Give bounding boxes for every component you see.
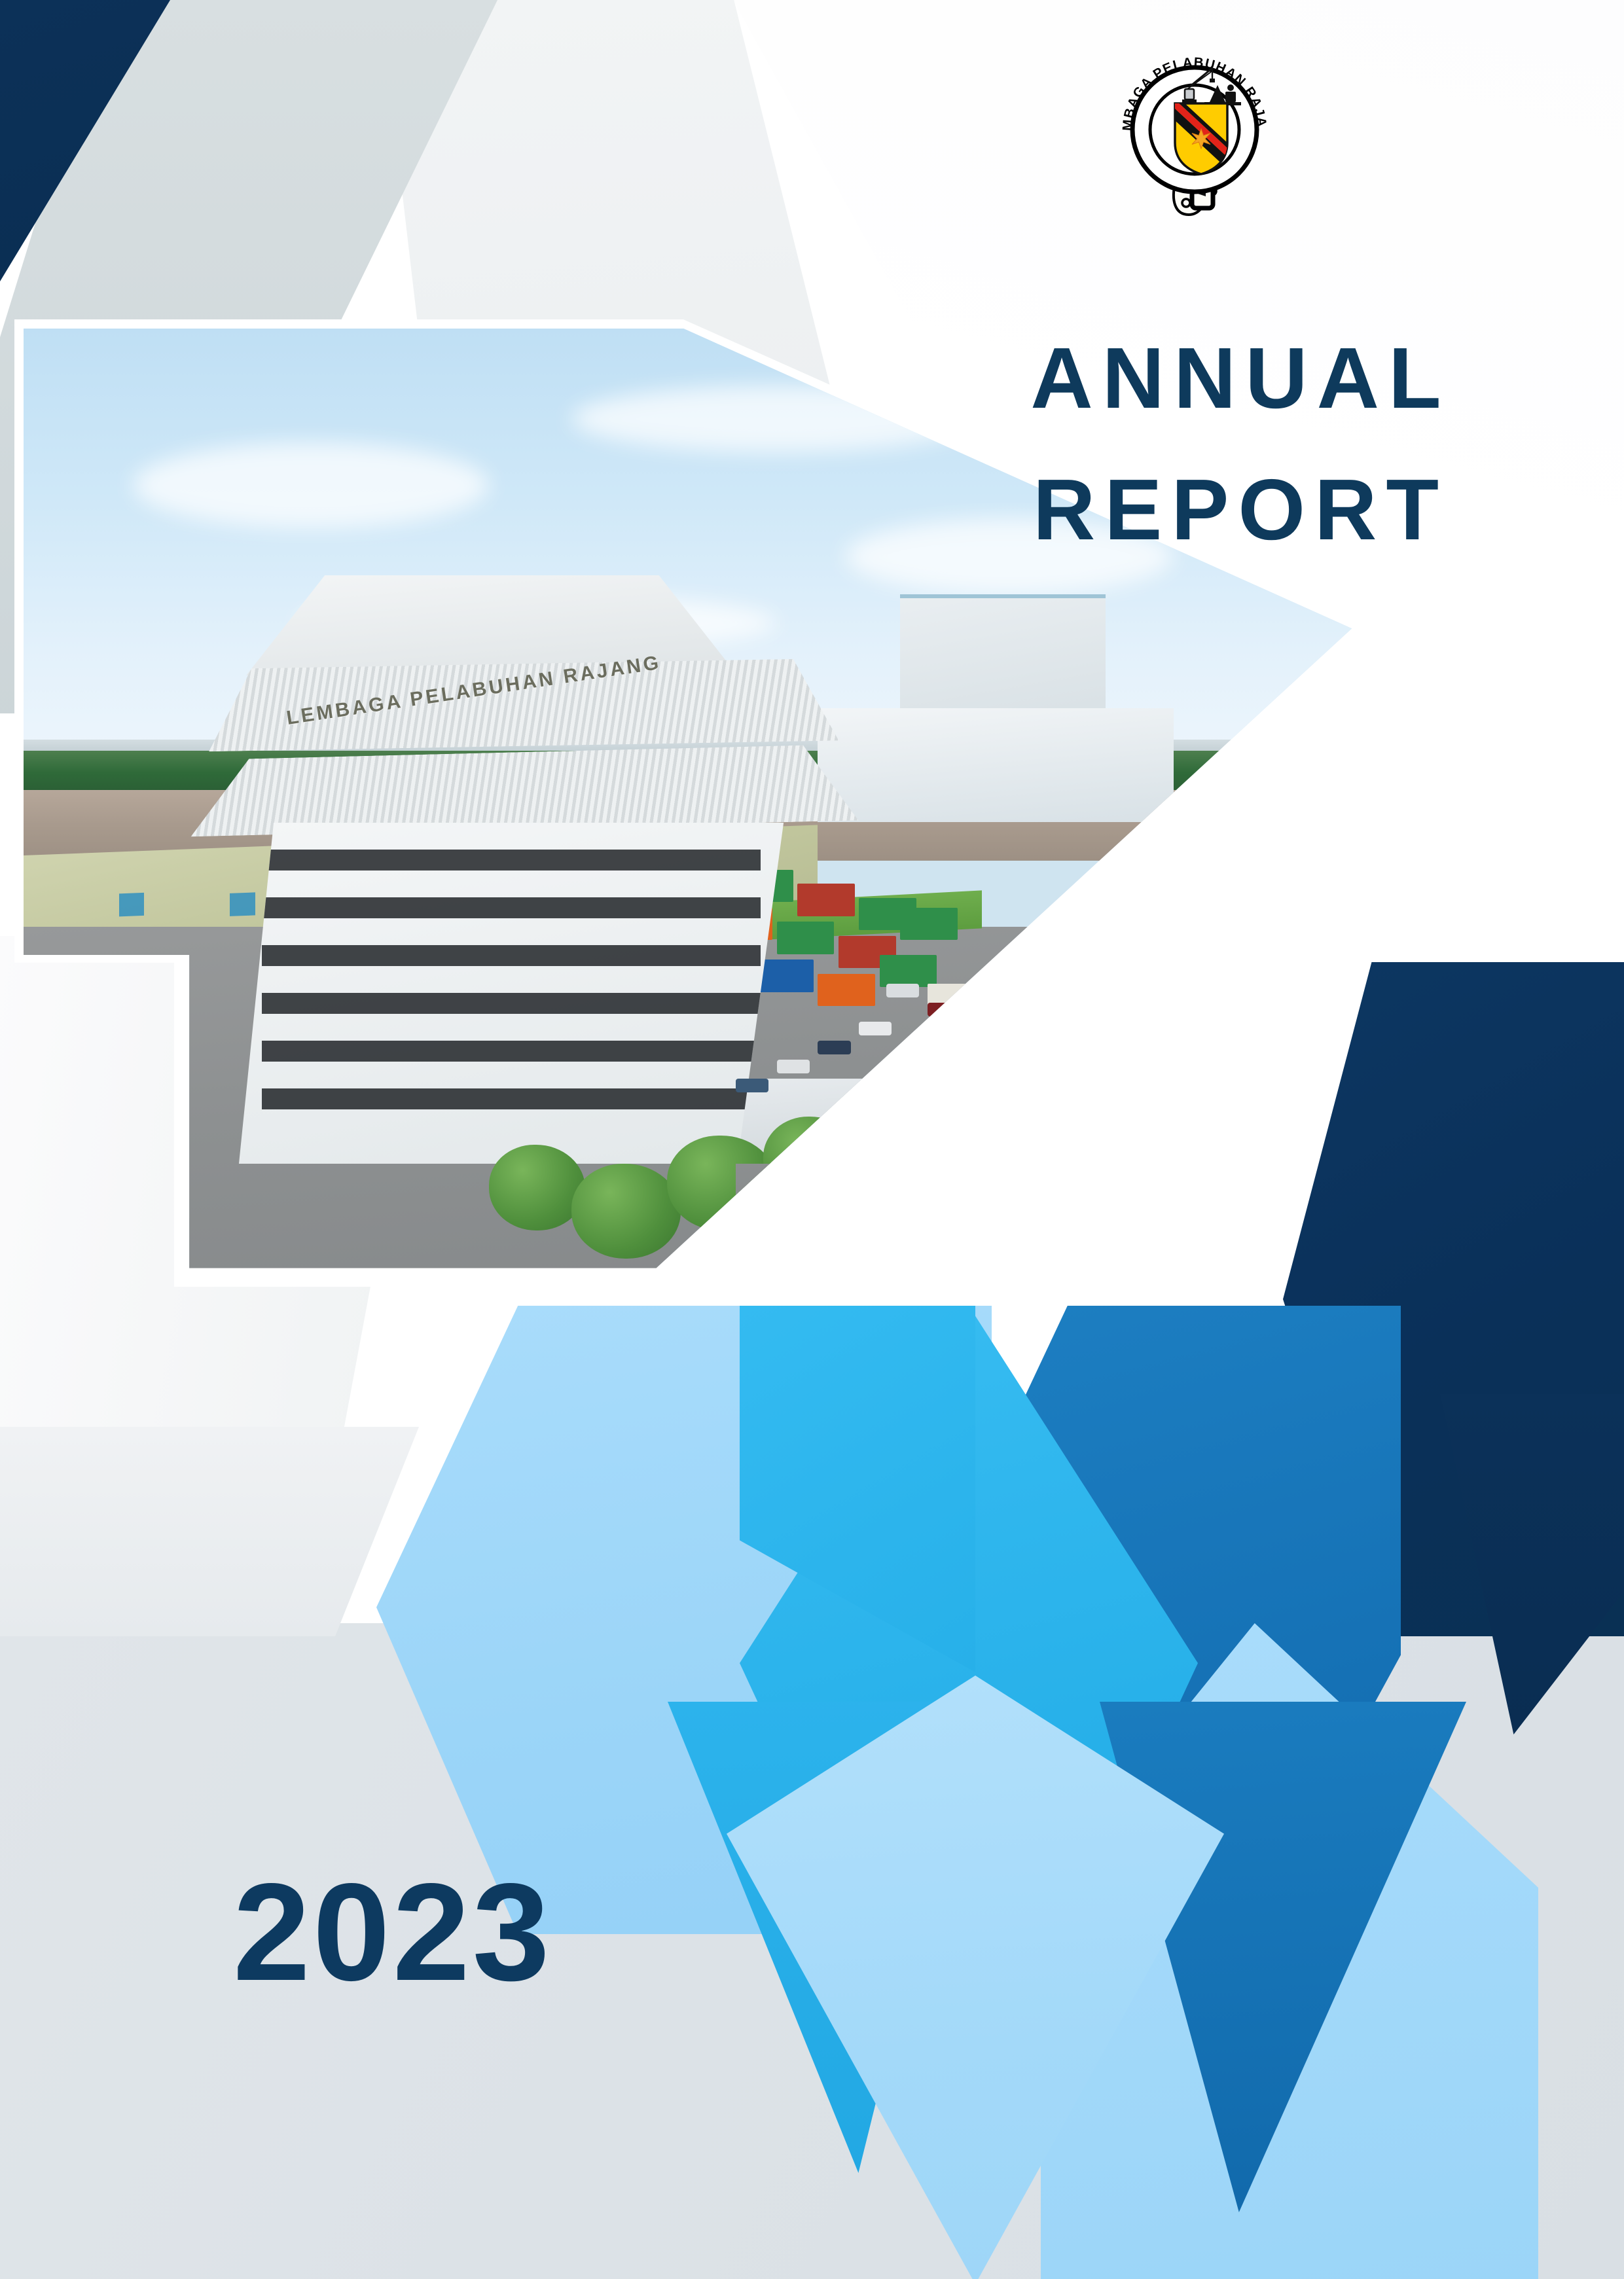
photo-car [818, 1041, 850, 1055]
organization-logo: LEMBAGA PELABUHAN RAJANG [1113, 46, 1276, 223]
photo-port-office-wing [818, 708, 1174, 822]
photo-headquarters-building: LEMBAGA PELABUHAN RAJANG [208, 575, 838, 1164]
photo-container [900, 908, 958, 940]
photo-container-truck [1064, 1126, 1160, 1164]
photo-car [736, 1079, 768, 1093]
photo-car [777, 1060, 810, 1074]
photo-car [886, 984, 919, 998]
cover-title: ANNUAL REPORT [887, 313, 1594, 575]
photo-tree [763, 1117, 859, 1202]
photo-road-marking [873, 1215, 907, 1234]
photo-car [859, 1022, 892, 1036]
report-year: 2023 [233, 1863, 552, 2001]
logo-shield [1175, 94, 1227, 174]
background-grey-strip-middle-left [0, 1427, 419, 1636]
annual-report-cover: LEMBAGA PELABUHAN RAJANG [0, 0, 1624, 2279]
title-line-annual: ANNUAL [887, 313, 1594, 444]
photo-road-marking [791, 1196, 825, 1215]
photo-container [1003, 974, 1072, 1004]
photo-container [880, 955, 937, 987]
photo-tree [489, 1145, 585, 1230]
photo-tree [667, 1136, 776, 1230]
photo-car [928, 1003, 960, 1017]
photo-cloud [133, 442, 489, 528]
title-line-report: REPORT [887, 444, 1594, 576]
photo-road-marking [955, 1234, 989, 1253]
photo-tree [845, 1088, 928, 1164]
photo-building-body [227, 823, 806, 1164]
photo-tree [571, 1164, 681, 1259]
